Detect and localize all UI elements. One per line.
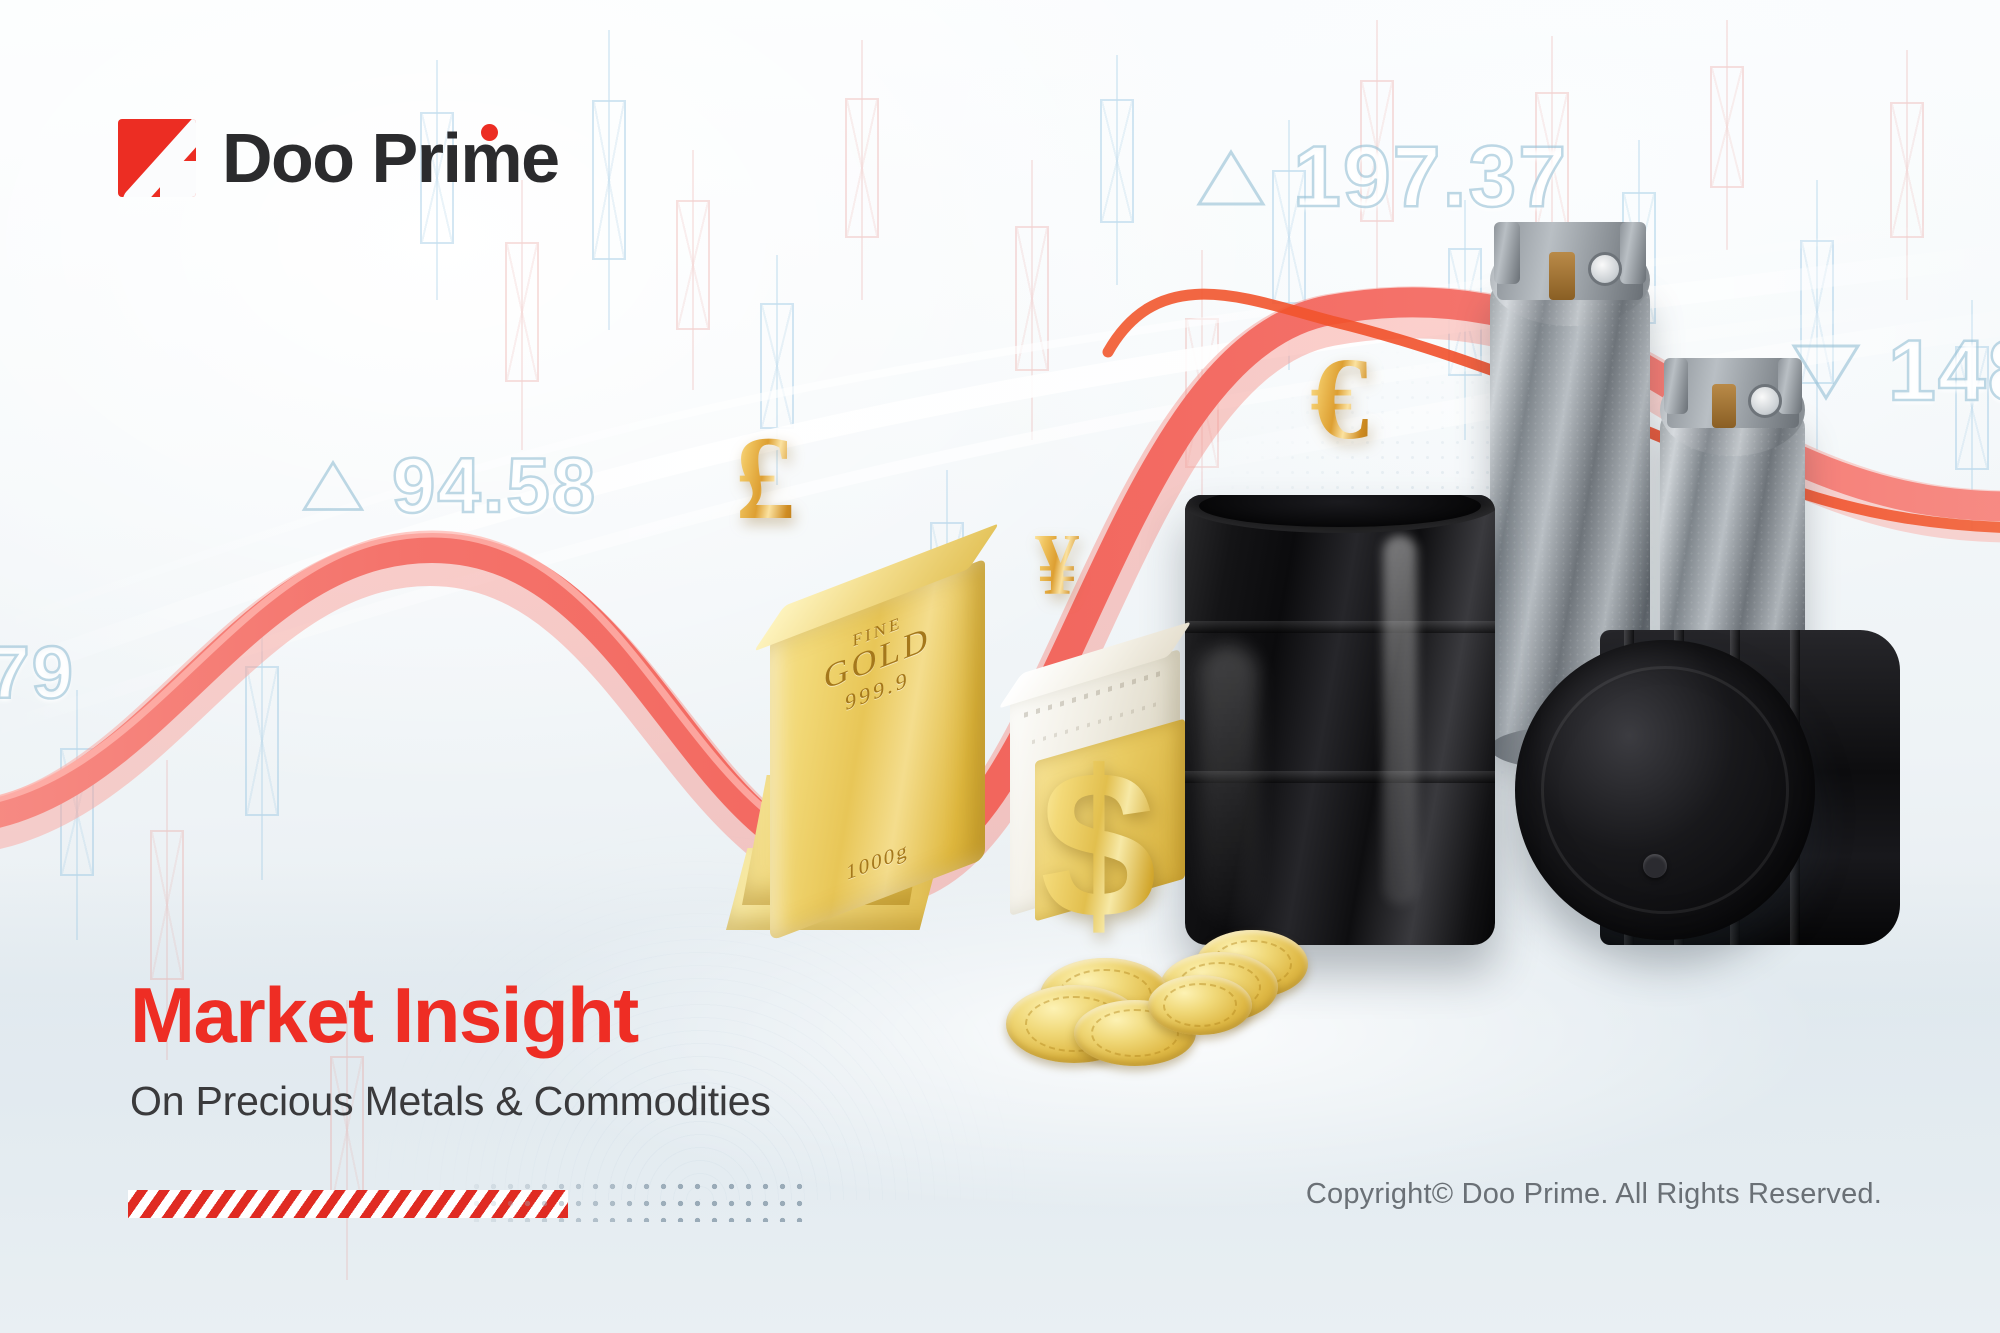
copyright-text: Copyright© Doo Prime. All Rights Reserve… <box>1306 1178 1882 1211</box>
euro-symbol: € <box>1310 340 1369 458</box>
product-scene: £ € ¥ <box>0 0 2000 1333</box>
cylinder-handle-right <box>1620 222 1646 284</box>
cylinder-gauge-small <box>1748 384 1782 418</box>
cylinder-handle-right-small <box>1778 358 1802 414</box>
headline-block: Market Insight On Precious Metals & Comm… <box>130 975 771 1125</box>
decorative-bar <box>128 1178 808 1222</box>
yen-symbol: ¥ <box>1035 522 1079 610</box>
doo-prime-logo[interactable]: Doo Prime <box>118 118 559 198</box>
gold-bullion-bar: FINE GOLD 999.9 1000g <box>770 559 985 942</box>
gold-coin <box>1148 975 1252 1035</box>
cylinder-gauge-large <box>1588 252 1622 286</box>
barrel-cap-ring <box>1541 666 1789 914</box>
logo-wordmark-text: Doo Prime <box>222 119 559 197</box>
cylinder-handle-left-small <box>1664 358 1688 414</box>
dollar-symbol: $ <box>1040 740 1157 950</box>
doo-prime-mark-icon <box>118 119 196 197</box>
logo-red-dot-icon <box>481 124 498 141</box>
gold-bar-weight-label: 1000g <box>770 808 985 916</box>
cylinder-handle-left <box>1494 222 1520 284</box>
oil-barrel-side <box>1515 640 1815 940</box>
black-oil-barrel <box>1185 495 1495 945</box>
dot-grid <box>468 1178 808 1222</box>
barrel-bung-plug <box>1643 854 1667 878</box>
cylinder-valve-small <box>1712 384 1736 428</box>
cylinder-valve-large <box>1549 252 1575 300</box>
page-subtitle: On Precious Metals & Commodities <box>130 1078 771 1125</box>
pound-symbol: £ <box>735 418 795 538</box>
page-title: Market Insight <box>130 975 771 1056</box>
banner-canvas: 197.37 148.48 94.58 .79 <box>0 0 2000 1333</box>
logo-wordmark: Doo Prime <box>222 118 559 198</box>
